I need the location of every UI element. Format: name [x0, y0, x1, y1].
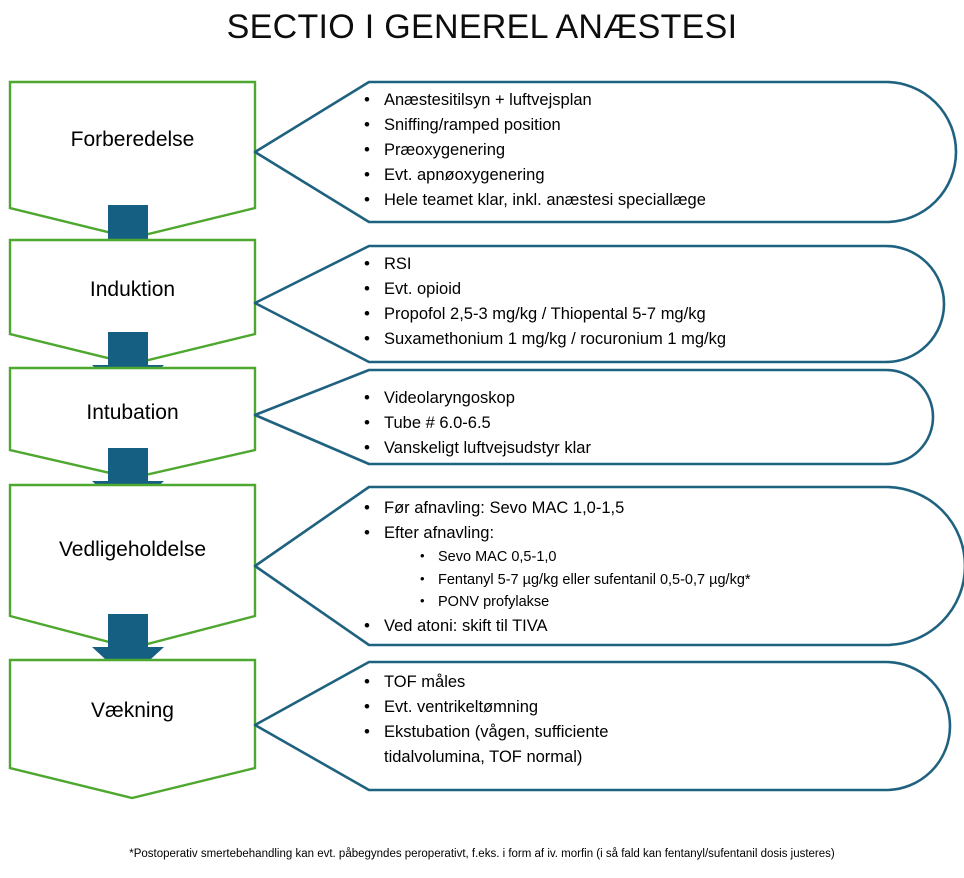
list-item-label: Vanskeligt luftvejsudstyr klar — [384, 439, 591, 457]
list-item-label: Propofol 2,5-3 mg/kg / Thiopental 5-7 mg… — [384, 305, 706, 323]
list-item-label: Ved atoni: skift til TIVA — [384, 617, 548, 635]
list-item: Suxamethonium 1 mg/kg / rocuronium 1 mg/… — [358, 327, 878, 352]
sub-list-item-label: Fentanyl 5-7 µg/kg eller sufentanil 0,5-… — [438, 572, 751, 588]
callout-list-induktion: RSI Evt. opioid Propofol 2,5-3 mg/kg / T… — [358, 252, 878, 352]
list-item-label: Suxamethonium 1 mg/kg / rocuronium 1 mg/… — [384, 330, 726, 348]
list-item: Præoxygenering — [358, 138, 878, 163]
stage-label-forberedelse: Forberedelse — [10, 129, 255, 150]
list-item: TOF måles — [358, 670, 668, 695]
stage-shape-vaekning[interactable] — [10, 660, 255, 798]
list-item: Propofol 2,5-3 mg/kg / Thiopental 5-7 mg… — [358, 302, 878, 327]
list-item: Tube # 6.0-6.5 — [358, 411, 878, 436]
list-item-label: RSI — [384, 255, 412, 273]
stage-label-induktion: Induktion — [10, 279, 255, 300]
list-item-label: Evt. ventrikeltømning — [384, 698, 538, 716]
list-item-label: Før afnavling: Sevo MAC 1,0-1,5 — [384, 499, 624, 517]
sub-list-item: Fentanyl 5-7 µg/kg eller sufentanil 0,5-… — [414, 569, 888, 592]
list-item-label: Evt. opioid — [384, 280, 461, 298]
list-item-label: Sniffing/ramped position — [384, 116, 561, 134]
stage-label-intubation: Intubation — [10, 402, 255, 423]
callout-list-intubation: Videolaryngoskop Tube # 6.0-6.5 Vanskeli… — [358, 386, 878, 461]
footnote: *Postoperativ smertebehandling kan evt. … — [0, 848, 964, 860]
list-item: Før afnavling: Sevo MAC 1,0-1,5 — [358, 496, 888, 521]
callout-list-forberedelse: Anæstesitilsyn + luftvejsplan Sniffing/r… — [358, 88, 878, 213]
list-item-label: Ekstubation (vågen, sufficiente tidalvol… — [384, 723, 608, 766]
list-item: Hele teamet klar, inkl. anæstesi special… — [358, 188, 878, 213]
list-item-label: Videolaryngoskop — [384, 389, 515, 407]
list-item: Vanskeligt luftvejsudstyr klar — [358, 436, 878, 461]
list-item: Videolaryngoskop — [358, 386, 878, 411]
list-item: Ved atoni: skift til TIVA — [358, 614, 888, 639]
list-item-label: TOF måles — [384, 673, 465, 691]
list-item: Ekstubation (vågen, sufficiente tidalvol… — [358, 720, 668, 770]
sub-list-item-label: PONV profylakse — [438, 594, 549, 610]
list-item: Efter afnavling: Sevo MAC 0,5-1,0 Fentan… — [358, 521, 888, 614]
list-item-label: Præoxygenering — [384, 141, 505, 159]
list-item: Evt. ventrikeltømning — [358, 695, 668, 720]
list-item-label: Hele teamet klar, inkl. anæstesi special… — [384, 191, 706, 209]
list-item: Anæstesitilsyn + luftvejsplan — [358, 88, 878, 113]
list-item-label: Tube # 6.0-6.5 — [384, 414, 491, 432]
callout-list-vaekning: TOF måles Evt. ventrikeltømning Ekstubat… — [358, 670, 668, 770]
list-item: Evt. opioid — [358, 277, 878, 302]
list-item-label: Anæstesitilsyn + luftvejsplan — [384, 91, 592, 109]
stage-label-vedligeholdelse: Vedligeholdelse — [10, 539, 255, 560]
sub-list-item: PONV profylakse — [414, 591, 888, 614]
list-item: Evt. apnøoxygenering — [358, 163, 878, 188]
callout-list-vedligeholdelse: Før afnavling: Sevo MAC 1,0-1,5 Efter af… — [358, 496, 888, 639]
list-item: Sniffing/ramped position — [358, 113, 878, 138]
stage-label-vaekning: Vækning — [10, 700, 255, 721]
sub-list-item: Sevo MAC 0,5-1,0 — [414, 546, 888, 569]
sub-list-item-label: Sevo MAC 0,5-1,0 — [438, 549, 556, 565]
list-item-label: Efter afnavling: — [384, 524, 494, 542]
list-item-label: Evt. apnøoxygenering — [384, 166, 545, 184]
callout-sublist-efter-afnavling: Sevo MAC 0,5-1,0 Fentanyl 5-7 µg/kg elle… — [384, 546, 888, 614]
list-item: RSI — [358, 252, 878, 277]
